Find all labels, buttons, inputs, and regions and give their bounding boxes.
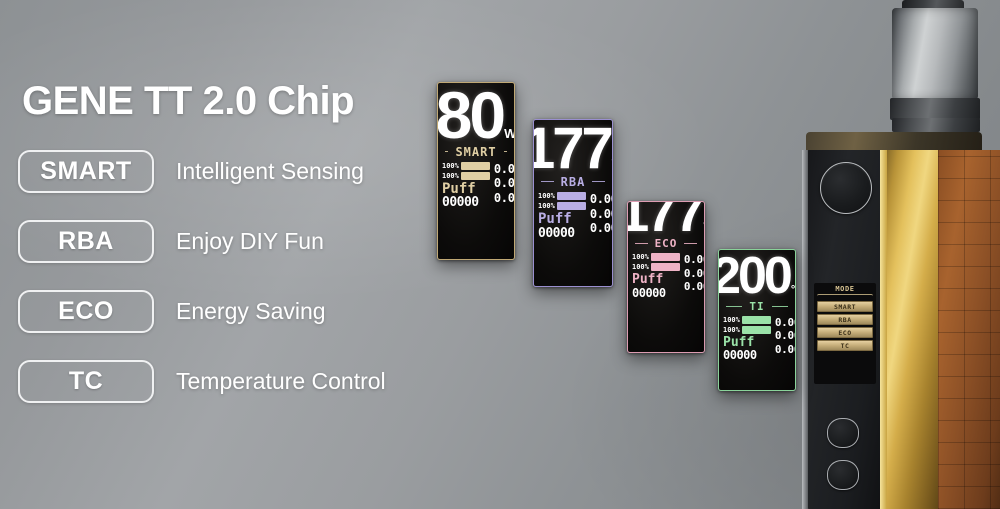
device-mode-option-rba[interactable]: RBA — [817, 314, 873, 325]
rba-stats-group: 0.00V 0.00Ω 0.00S — [590, 192, 613, 240]
smart-battery-2-pct: 100% — [442, 172, 459, 180]
smart-puff-label: Puff — [442, 182, 490, 197]
mode-screen-tc: 200 °F TI 100% 100% — [718, 249, 796, 391]
rba-stat-resistance: 0.00Ω — [590, 207, 613, 222]
smart-battery-1-bar — [461, 162, 490, 170]
battery-fill — [558, 203, 585, 209]
rba-data-grid: 100% 100% Puff 00000 0.00V — [534, 189, 612, 242]
mod-gold-edge-highlight — [880, 150, 887, 509]
feature-tag-rba: RBA — [18, 220, 154, 263]
smart-data-grid: 100% 100% Puff 00000 0.00V — [438, 159, 514, 212]
rba-power-row: 177 W — [534, 120, 612, 174]
tc-battery-group: 100% 100% Puff 00000 — [723, 316, 771, 362]
mode-strip-right-bar — [502, 150, 509, 153]
eco-power-value: 177 — [627, 201, 703, 236]
battery-row: 100% — [538, 202, 586, 210]
battery-fill — [652, 254, 679, 260]
device-mode-option-tc[interactable]: TC — [817, 340, 873, 351]
battery-fill — [558, 193, 585, 199]
battery-row: 100% — [632, 253, 680, 261]
feature-row-smart: SMART Intelligent Sensing — [18, 148, 386, 195]
eco-stat-seconds-value: 0.00 — [684, 280, 705, 293]
device-mode-menu: MODE SMART RBA ECO TC — [814, 283, 876, 384]
tank-airflow-ring — [892, 118, 980, 132]
eco-data-grid: 100% 100% Puff 00000 0.00V — [628, 250, 704, 301]
battery-row: 100% — [723, 326, 771, 334]
battery-row: 100% — [723, 316, 771, 324]
rba-power-unit: W — [612, 157, 613, 171]
smart-battery-group: 100% 100% Puff 00000 — [442, 162, 490, 210]
rba-stat-seconds-value: 0.00 — [590, 221, 613, 235]
rba-stat-voltage: 0.00V — [590, 192, 613, 207]
device-mode-option-eco[interactable]: ECO — [817, 327, 873, 338]
battery-fill — [462, 163, 489, 169]
eco-stat-voltage-value: 0.00 — [684, 253, 705, 266]
rba-stat-seconds: 0.00S — [590, 221, 613, 236]
vape-device: MODE SMART RBA ECO TC — [780, 0, 1000, 509]
tank-glass — [892, 8, 978, 100]
tc-stat-seconds: 0.00S — [775, 329, 796, 342]
mod-left-highlight — [802, 150, 808, 509]
tc-stat-seconds-value: 0.00 — [775, 329, 796, 342]
tc-stat-resistance: 0.00Ω — [775, 343, 796, 356]
feature-desc-smart: Intelligent Sensing — [176, 158, 364, 185]
tc-stat-wattage-value: 0.00 — [775, 316, 796, 329]
feature-tag-smart: SMART — [18, 150, 154, 193]
eco-power-unit: W — [704, 221, 705, 233]
tc-battery-2-bar — [742, 326, 771, 334]
battery-fill — [743, 327, 770, 333]
rba-power-value: 177 — [533, 124, 611, 174]
feature-list: SMART Intelligent Sensing RBA Enjoy DIY … — [18, 148, 386, 428]
smart-power-unit: W — [504, 126, 515, 141]
mod-gold-panel — [884, 150, 940, 509]
mode-menu-divider — [817, 294, 873, 299]
device-mode-option-smart[interactable]: SMART — [817, 301, 873, 312]
smart-stat-resistance: 0.00Ω — [494, 176, 515, 191]
mode-strip-left-bar — [539, 180, 556, 183]
battery-row: 100% — [632, 263, 680, 271]
smart-stat-seconds: 0.00S — [494, 191, 515, 206]
rba-stat-voltage-value: 0.00 — [590, 192, 613, 206]
rba-puff-label: Puff — [538, 212, 586, 227]
eco-stat-resistance: 0.00Ω — [684, 267, 705, 280]
tank-base-ring — [890, 98, 980, 120]
battery-fill — [743, 317, 770, 323]
rba-battery-group: 100% 100% Puff 00000 — [538, 192, 586, 240]
mode-strip-right-bar — [682, 242, 699, 245]
tc-stats-group: 0.00W 0.00S 0.00Ω — [775, 316, 796, 362]
feature-tag-eco: ECO — [18, 290, 154, 333]
mode-strip-right-bar — [590, 180, 607, 183]
smart-power-row: 80 W — [438, 83, 514, 144]
eco-battery-1-bar — [651, 253, 680, 261]
feature-tag-tc: TC — [18, 360, 154, 403]
tc-battery-1-bar — [742, 316, 771, 324]
adjust-down-button[interactable] — [827, 460, 859, 490]
feature-row-tc: TC Temperature Control — [18, 358, 386, 405]
tc-puff-count: 00000 — [723, 349, 771, 362]
mode-screen-eco: 177 W ECO 100% 100% — [627, 201, 705, 353]
smart-stat-seconds-value: 0.00 — [494, 191, 515, 205]
smart-stat-voltage-value: 0.00 — [494, 162, 515, 176]
eco-battery-2-pct: 100% — [632, 263, 649, 271]
eco-power-row: 177 W — [628, 201, 704, 236]
feature-row-eco: ECO Energy Saving — [18, 288, 386, 335]
mode-strip-left-bar — [443, 150, 450, 153]
tc-temp-row: 200 °F — [719, 250, 795, 299]
tc-battery-1-pct: 100% — [723, 316, 740, 324]
battery-row: 100% — [442, 162, 490, 170]
mode-screen-rba: 177 W RBA 100% 100% — [533, 119, 613, 287]
rba-battery-1-bar — [557, 192, 586, 200]
eco-stat-voltage: 0.00V — [684, 253, 705, 266]
smart-stats-group: 0.00V 0.00Ω 0.00S — [494, 162, 515, 210]
mode-strip-left-bar — [724, 305, 744, 308]
mode-screen-smart: 80 W SMART 100% 100% — [437, 82, 515, 260]
device-mode-menu-title: MODE — [814, 285, 876, 293]
rba-stat-resistance-value: 0.00 — [590, 207, 613, 221]
smart-puff-count: 00000 — [442, 196, 490, 210]
feature-desc-tc: Temperature Control — [176, 368, 386, 395]
tc-data-grid: 100% 100% Puff 00000 0.00W — [719, 313, 795, 364]
eco-battery-1-pct: 100% — [632, 253, 649, 261]
tc-temp-value: 200 — [718, 254, 790, 299]
battery-fill — [462, 173, 489, 179]
rba-battery-2-bar — [557, 202, 586, 210]
battery-row: 100% — [442, 172, 490, 180]
eco-battery-group: 100% 100% Puff 00000 — [632, 253, 680, 299]
feature-desc-eco: Energy Saving — [176, 298, 326, 325]
page-title: GENE TT 2.0 Chip — [22, 79, 354, 124]
mode-strip-right-bar — [770, 305, 790, 308]
tc-stat-resistance-value: 0.00 — [775, 343, 796, 356]
smart-battery-2-bar — [461, 172, 490, 180]
feature-desc-rba: Enjoy DIY Fun — [176, 228, 324, 255]
mode-strip-left-bar — [633, 242, 650, 245]
eco-stat-resistance-value: 0.00 — [684, 267, 705, 280]
tc-stat-wattage: 0.00W — [775, 316, 796, 329]
fire-button[interactable] — [820, 162, 872, 214]
rba-puff-count: 00000 — [538, 227, 586, 241]
tc-puff-label: Puff — [723, 336, 771, 350]
product-banner: GENE TT 2.0 Chip SMART Intelligent Sensi… — [0, 0, 1000, 509]
adjust-up-button[interactable] — [827, 418, 859, 448]
rba-battery-1-pct: 100% — [538, 192, 555, 200]
eco-puff-label: Puff — [632, 273, 680, 287]
smart-stat-resistance-value: 0.00 — [494, 176, 515, 190]
eco-battery-2-bar — [651, 263, 680, 271]
battery-fill — [652, 264, 679, 270]
battery-row: 100% — [538, 192, 586, 200]
eco-stat-seconds: 0.00S — [684, 280, 705, 293]
eco-puff-count: 00000 — [632, 287, 680, 300]
rba-battery-2-pct: 100% — [538, 202, 555, 210]
feature-row-rba: RBA Enjoy DIY Fun — [18, 218, 386, 265]
tc-temp-unit: °F — [791, 284, 796, 296]
smart-battery-1-pct: 100% — [442, 162, 459, 170]
smart-power-value: 80 — [437, 87, 503, 144]
smart-stat-voltage: 0.00V — [494, 162, 515, 177]
tc-battery-2-pct: 100% — [723, 326, 740, 334]
mod-leather-panel — [938, 150, 1000, 509]
eco-stats-group: 0.00V 0.00Ω 0.00S — [684, 253, 705, 299]
